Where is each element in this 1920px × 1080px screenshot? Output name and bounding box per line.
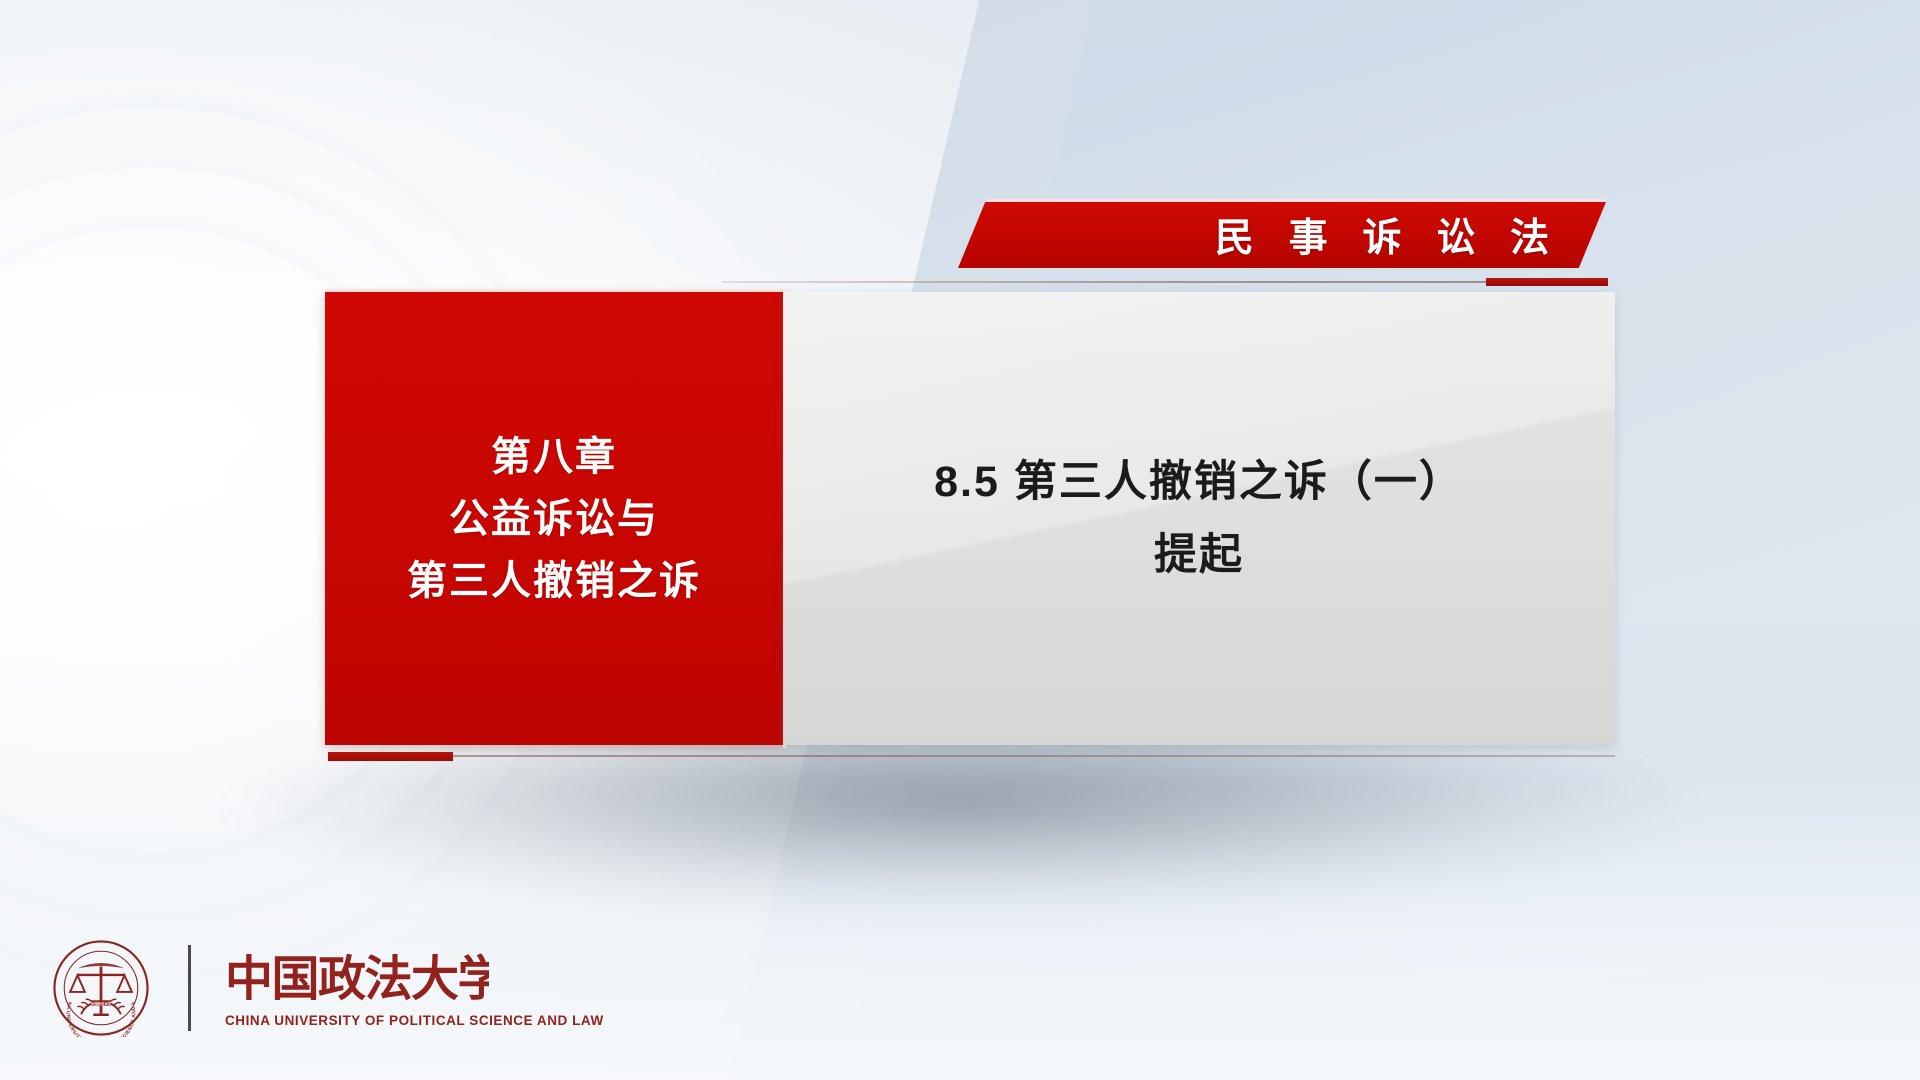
content-underline-rule [330, 755, 1615, 757]
chapter-line-3: 第三人撤销之诉 [407, 550, 701, 612]
content-block: 第八章 公益诉讼与 第三人撤销之诉 8.5 第三人撤销之诉（一） 提起 [325, 292, 1615, 745]
svg-text:CHINA UNIVERSITY OF POLITICAL: CHINA UNIVERSITY OF POLITICAL SCIENCE AN… [52, 939, 137, 1037]
chapter-panel: 第八章 公益诉讼与 第三人撤销之诉 [325, 292, 783, 745]
svg-text:中国政法大学: 中国政法大学 [225, 953, 489, 1006]
course-title-text: 民 事 诉 讼 法 [958, 202, 1606, 268]
chapter-line-1: 第八章 [491, 426, 617, 488]
topic-line-2: 提起 [1154, 519, 1244, 591]
university-name-cn-icon: 中国政法大学 [225, 948, 489, 1008]
university-logo: CHINA UNIVERSITY OF POLITICAL SCIENCE AN… [52, 932, 604, 1044]
content-underline-accent [328, 752, 453, 761]
university-name-en: CHINA UNIVERSITY OF POLITICAL SCIENCE AN… [225, 1013, 604, 1028]
banner-underline-rule [722, 281, 1606, 283]
university-seal-icon: CHINA UNIVERSITY OF POLITICAL SCIENCE AN… [52, 939, 150, 1037]
logo-text-block: 中国政法大学 CHINA UNIVERSITY OF POLITICAL SCI… [225, 948, 604, 1028]
topic-line-1: 8.5 第三人撤销之诉（一） [934, 446, 1464, 518]
banner-underline-accent [1486, 278, 1608, 286]
course-title-banner: 民 事 诉 讼 法 [958, 202, 1606, 268]
topic-panel: 8.5 第三人撤销之诉（一） 提起 [783, 292, 1615, 745]
chapter-line-2: 公益诉讼与 [449, 488, 659, 550]
slide-canvas: 民 事 诉 讼 法 第八章 公益诉讼与 第三人撤销之诉 8.5 第三人撤销之诉（… [0, 0, 1920, 1080]
svg-text:中国政法大学: 中国政法大学 [91, 1001, 112, 1006]
logo-divider [188, 945, 191, 1031]
